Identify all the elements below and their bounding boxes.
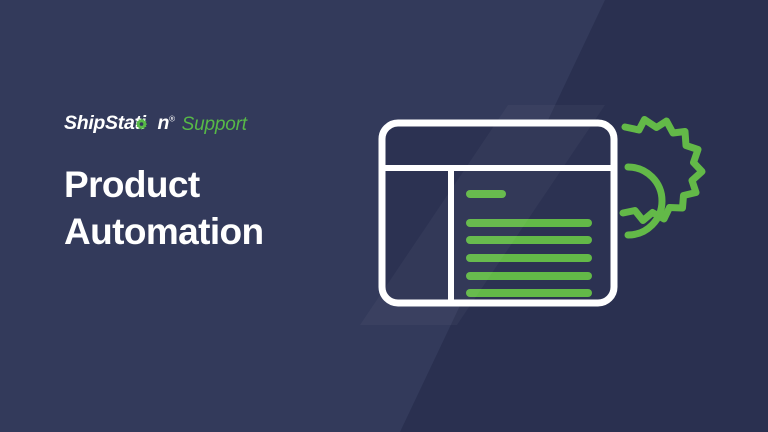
settings-gear-icon [623, 120, 702, 236]
shipstation-wordmark: ShipStation® [64, 114, 175, 134]
product-automation-illustration [360, 105, 700, 325]
wordmark-text-n: n [157, 112, 169, 134]
text-column: ShipStation® Support Product Automation [64, 112, 364, 256]
slide-canvas: ShipStation® Support Product Automation [0, 0, 768, 432]
wordmark-text-ship: Ship [64, 112, 105, 134]
page-title: Product Automation [64, 162, 364, 256]
support-label: Support [182, 115, 247, 134]
registered-trademark-symbol: ® [169, 115, 175, 124]
brand-lockup: ShipStation® Support [64, 112, 364, 136]
gear-icon [135, 118, 148, 131]
